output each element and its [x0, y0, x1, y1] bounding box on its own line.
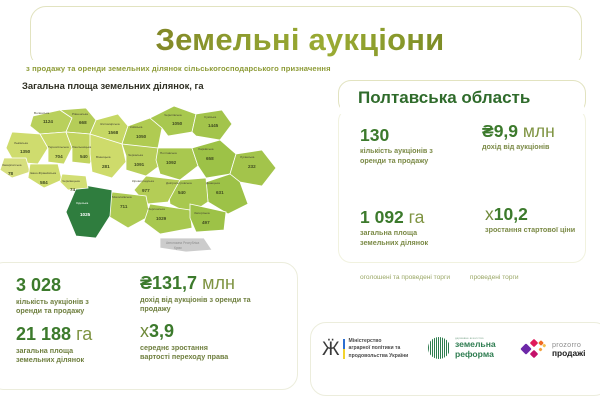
globe-icon: [428, 337, 450, 359]
svg-text:78: 78: [8, 171, 14, 176]
region-stats-card-mask: [340, 104, 584, 114]
total-stat-growth-value: х3,9: [140, 322, 305, 341]
svg-text:1050: 1050: [136, 134, 147, 139]
ministry-line-3: продовольства України: [349, 353, 409, 360]
tryzub-icon: Ӝ: [322, 340, 340, 359]
prozorro-diamonds-icon: [522, 340, 548, 360]
svg-text:Рівненська: Рівненська: [72, 112, 88, 116]
svg-text:232: 232: [248, 164, 256, 169]
svg-text:584: 584: [40, 180, 48, 185]
infographic-root: Земельні аукціони з продажу та оренди зе…: [0, 0, 600, 400]
svg-text:Дніпропетровська: Дніпропетровська: [166, 181, 192, 185]
total-stat-income: ₴131,7 млн дохід від аукціонів з оренди …: [140, 274, 310, 313]
svg-text:Донецька: Донецька: [206, 181, 220, 185]
svg-text:Закарпатська: Закарпатська: [2, 163, 22, 167]
svg-text:1029: 1029: [156, 216, 167, 221]
region-stat-auctions-value: 130: [360, 126, 470, 144]
flag-divider-icon: [343, 339, 345, 359]
logo-ministry-text: Міністерство аграрної політики та продов…: [349, 338, 409, 360]
svg-text:1091: 1091: [134, 162, 145, 167]
svg-text:Полтавська: Полтавська: [160, 151, 177, 155]
svg-text:Черкаська: Черкаська: [128, 153, 143, 157]
svg-text:Житомирська: Житомирська: [100, 122, 120, 126]
logo-land-reform-text: державне агентство земельна реформа: [455, 337, 496, 359]
svg-text:704: 704: [55, 154, 63, 159]
svg-text:Сумська: Сумська: [204, 115, 216, 119]
prozorro-main-text: продажі: [552, 349, 585, 359]
map-svg: Волинська1124 Рівненська668 Житомирська1…: [0, 92, 310, 252]
total-stat-auctions: 3 028 кількість аукціонів зоренди та про…: [16, 276, 146, 315]
svg-text:Херсонська: Херсонська: [148, 207, 165, 211]
svg-text:977: 977: [142, 188, 150, 193]
svg-text:1124: 1124: [43, 119, 53, 124]
svg-text:497: 497: [202, 220, 210, 225]
svg-text:281: 281: [102, 164, 110, 169]
total-stat-growth: х3,9 середнє зростаннявартості переходу …: [140, 322, 305, 361]
total-stat-income-caption: дохід від аукціонів з оренди тапродажу: [140, 295, 310, 313]
logo-land-reform: державне агентство земельна реформа: [428, 337, 496, 359]
svg-text:Львівська: Львівська: [14, 141, 28, 145]
total-stat-area: 21 188 га загальна площаземельних діляно…: [16, 325, 146, 364]
ministry-line-2: аграрної політики та: [349, 345, 409, 352]
region-stat-area-caption: загальна площаземельних ділянок: [360, 228, 475, 246]
svg-text:1092: 1092: [166, 160, 177, 165]
region-stat-auctions: 130 кількість аукціонів зоренди та прода…: [360, 126, 470, 165]
region-stat-area: 1 092 га загальна площаземельних ділянок: [360, 208, 475, 247]
svg-text:Чернівецька: Чернівецька: [62, 179, 80, 183]
svg-text:Харківська: Харківська: [198, 147, 214, 151]
svg-text:711: 711: [120, 204, 128, 209]
region-legend: оголошені та проведені торги проведені т…: [360, 274, 590, 281]
region-stat-growth: х10,2 зростання стартової ціни: [485, 205, 595, 235]
svg-text:Хмельницька: Хмельницька: [72, 145, 91, 149]
logo-prozorro-text: prozorro продажі: [552, 341, 585, 359]
svg-text:Івано-Франківська: Івано-Франківська: [30, 171, 56, 175]
svg-text:540: 540: [178, 190, 186, 195]
logo-ministry: Ӝ Міністерство аграрної політики та прод…: [322, 338, 408, 360]
svg-text:668: 668: [79, 120, 87, 125]
region-stat-growth-value: х10,2: [485, 205, 595, 223]
svg-text:1350: 1350: [20, 149, 31, 154]
svg-text:1050: 1050: [172, 121, 183, 126]
svg-text:Київська: Київська: [130, 125, 143, 129]
map-caption: Загальна площа земельних ділянок, га: [22, 80, 204, 91]
svg-text:Луганська: Луганська: [240, 155, 255, 159]
svg-text:Миколаївська: Миколаївська: [112, 195, 132, 199]
svg-text:Автономна Республіка: Автономна Республіка: [166, 241, 200, 245]
svg-text:Чернігівська: Чернігівська: [164, 113, 182, 117]
total-stat-area-value: 21 188 га: [16, 325, 146, 344]
svg-text:540: 540: [80, 154, 88, 159]
region-stat-auctions-caption: кількість аукціонів зоренди та продажу: [360, 146, 470, 164]
oblast-odesa: [66, 184, 112, 238]
svg-text:Крим: Крим: [174, 246, 182, 250]
svg-text:Волинська: Волинська: [34, 111, 50, 115]
logo-prozorro: prozorro продажі: [522, 340, 585, 360]
svg-text:1445: 1445: [208, 123, 219, 128]
svg-text:658: 658: [206, 156, 214, 161]
legend-item-announced: оголошені та проведені торги: [360, 274, 450, 281]
page-title: Земельні аукціони: [0, 22, 600, 58]
svg-text:Одеська: Одеська: [76, 201, 88, 205]
region-stat-income-value: ₴9,9 млн: [482, 122, 592, 140]
total-stat-auctions-value: 3 028: [16, 276, 146, 295]
svg-text:631: 631: [216, 190, 224, 195]
svg-text:Кіровоградська: Кіровоградська: [132, 179, 154, 183]
total-stat-growth-caption: середнє зростаннявартості переходу права: [140, 343, 305, 361]
svg-text:Тернопільська: Тернопільська: [48, 145, 69, 149]
oblast-kharkiv: [192, 140, 236, 178]
svg-text:1025: 1025: [80, 212, 91, 217]
region-stat-income-caption: дохід від аукціонів: [482, 142, 592, 151]
oblast-zakarpattia: [0, 158, 30, 178]
region-stat-growth-caption: зростання стартової ціни: [485, 225, 595, 234]
svg-text:Вінницька: Вінницька: [96, 155, 111, 159]
reform-main-2: реформа: [455, 350, 496, 360]
ukraine-choropleth-map: Волинська1124 Рівненська668 Житомирська1…: [0, 92, 310, 252]
svg-text:1568: 1568: [108, 130, 119, 135]
total-stat-area-caption: загальна площаземельних ділянок: [16, 346, 146, 364]
svg-text:Запорізька: Запорізька: [194, 211, 210, 215]
svg-text:74: 74: [70, 187, 76, 192]
region-stat-area-value: 1 092 га: [360, 208, 475, 226]
total-stat-income-value: ₴131,7 млн: [140, 274, 310, 293]
total-stat-auctions-caption: кількість аукціонів зоренди та продажу: [16, 297, 146, 315]
page-subtitle: з продажу та оренди земельних ділянок сі…: [26, 64, 331, 73]
region-stat-income: ₴9,9 млн дохід від аукціонів: [482, 122, 592, 152]
ministry-line-1: Міністерство: [349, 338, 409, 345]
legend-item-completed: проведені торги: [470, 274, 519, 281]
